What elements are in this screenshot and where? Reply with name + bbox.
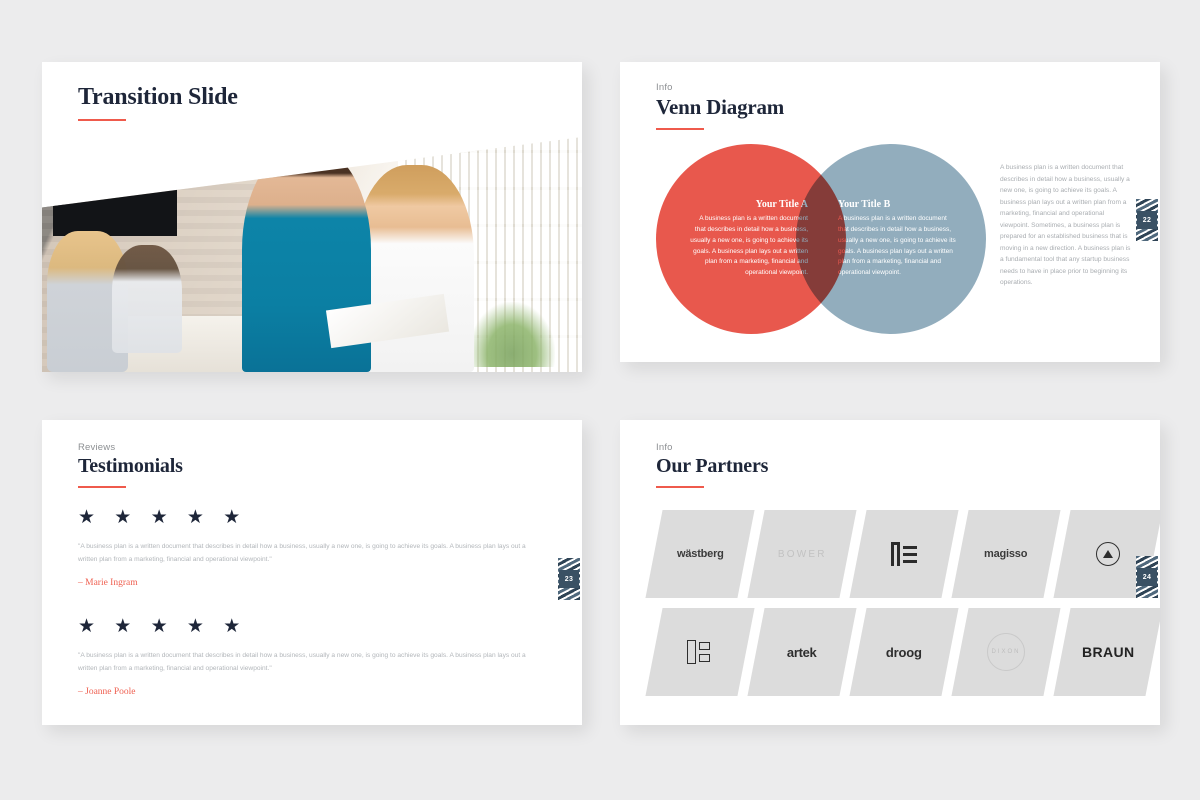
slide-venn-body: Info Venn Diagram Your Title A A busines… <box>620 62 1160 362</box>
slide-our-partners[interactable]: Info Our Partners wästberg BOWER magisso <box>620 420 1160 725</box>
page-number-badge: 22 <box>1136 199 1158 241</box>
circle-triangle-icon <box>1096 542 1120 566</box>
page-number: 23 <box>559 570 579 588</box>
photo-screen <box>53 151 177 236</box>
photo-plant <box>469 302 555 368</box>
dixon-circle-icon: DIXON <box>987 633 1025 671</box>
venn-circle-b-title: Your Title B <box>838 199 958 210</box>
slide-transition-body: Transition Slide <box>42 62 582 372</box>
me-monogram-icon <box>891 542 917 566</box>
partner-logo-label: artek <box>787 645 817 660</box>
testimonial-quote: "A business plan is a written document t… <box>78 650 546 676</box>
partner-tile-droog[interactable]: droog <box>849 608 958 696</box>
partner-logo-label: BOWER <box>778 549 827 560</box>
testimonial-author: – Marie Ingram <box>78 578 546 588</box>
title-rule <box>78 119 126 121</box>
slide-partners-body: Info Our Partners wästberg BOWER magisso <box>620 420 1160 725</box>
slide-testimonials-body: Reviews Testimonials ★ ★ ★ ★ ★ "A busine… <box>42 420 582 725</box>
title-rule <box>656 486 704 488</box>
page-title: Testimonials <box>78 455 183 478</box>
venn-circle-a-text: Your Title A A business plan is a writte… <box>688 199 808 278</box>
partner-logo-label: DIXON <box>987 633 1025 671</box>
star-rating-icon: ★ ★ ★ ★ ★ <box>78 617 546 636</box>
slide-transition[interactable]: Transition Slide <box>42 62 582 372</box>
partner-tile-dixon[interactable]: DIXON <box>951 608 1060 696</box>
page-title: Transition Slide <box>78 84 238 111</box>
title-rule <box>656 128 704 130</box>
slide-transition-header: Transition Slide <box>78 84 238 121</box>
partner-logo-label: wästberg <box>677 548 724 560</box>
partner-tile-artek[interactable]: artek <box>747 608 856 696</box>
venn-description-paragraph: A business plan is a written document th… <box>1000 162 1132 289</box>
partner-tile-magisso[interactable]: magisso <box>951 510 1060 598</box>
partner-logo-label: magisso <box>984 548 1027 560</box>
testimonial-item: ★ ★ ★ ★ ★ "A business plan is a written … <box>78 617 546 697</box>
page-title: Venn Diagram <box>656 95 784 120</box>
page-number: 24 <box>1137 568 1157 586</box>
venn-circle-b-text: Your Title B A business plan is a writte… <box>838 199 958 278</box>
title-rule <box>78 486 126 488</box>
slide-testimonials[interactable]: Reviews Testimonials ★ ★ ★ ★ ★ "A busine… <box>42 420 582 725</box>
partner-logo-label: BRAUN <box>1082 644 1135 660</box>
venn-circle-a-body: A business plan is a written document th… <box>688 214 808 278</box>
eyebrow-label: Info <box>656 82 784 93</box>
slide-venn-header: Info Venn Diagram <box>656 82 784 130</box>
venn-circle-b[interactable]: Your Title B A business plan is a writte… <box>796 144 986 334</box>
page-title: Our Partners <box>656 455 768 478</box>
testimonial-author: – Joanne Poole <box>78 687 546 697</box>
photo-person-seated-back <box>112 245 182 353</box>
slide-deck-preview: Transition Slide <box>0 0 1200 800</box>
partner-tile-braun[interactable]: BRAUN <box>1053 608 1160 696</box>
venn-circle-b-body: A business plan is a written document th… <box>838 214 958 278</box>
slide-testimonials-header: Reviews Testimonials <box>78 442 183 488</box>
venn-circle-a-title: Your Title A <box>688 199 808 210</box>
partner-tile-bower[interactable]: BOWER <box>747 510 856 598</box>
hay-blocks-icon <box>687 640 713 664</box>
testimonial-item: ★ ★ ★ ★ ★ "A business plan is a written … <box>78 508 546 588</box>
page-number-badge: 24 <box>1136 556 1158 598</box>
slide-partners-header: Info Our Partners <box>656 442 768 488</box>
partner-logo-grid: wästberg BOWER magisso <box>654 510 1154 696</box>
page-number-badge: 23 <box>558 558 580 600</box>
slide-venn-diagram[interactable]: Info Venn Diagram Your Title A A busines… <box>620 62 1160 362</box>
testimonial-quote: "A business plan is a written document t… <box>78 541 546 567</box>
partner-tile-wastberg[interactable]: wästberg <box>645 510 754 598</box>
partner-tile-hay[interactable] <box>645 608 754 696</box>
transition-photo <box>42 137 582 372</box>
eyebrow-label: Info <box>656 442 768 453</box>
star-rating-icon: ★ ★ ★ ★ ★ <box>78 508 546 527</box>
page-number: 22 <box>1137 211 1157 229</box>
eyebrow-label: Reviews <box>78 442 183 453</box>
partner-tile-me[interactable] <box>849 510 958 598</box>
venn-diagram: Your Title A A business plan is a writte… <box>656 144 986 334</box>
photo-scene <box>42 137 582 372</box>
partner-logo-label: droog <box>886 645 922 660</box>
